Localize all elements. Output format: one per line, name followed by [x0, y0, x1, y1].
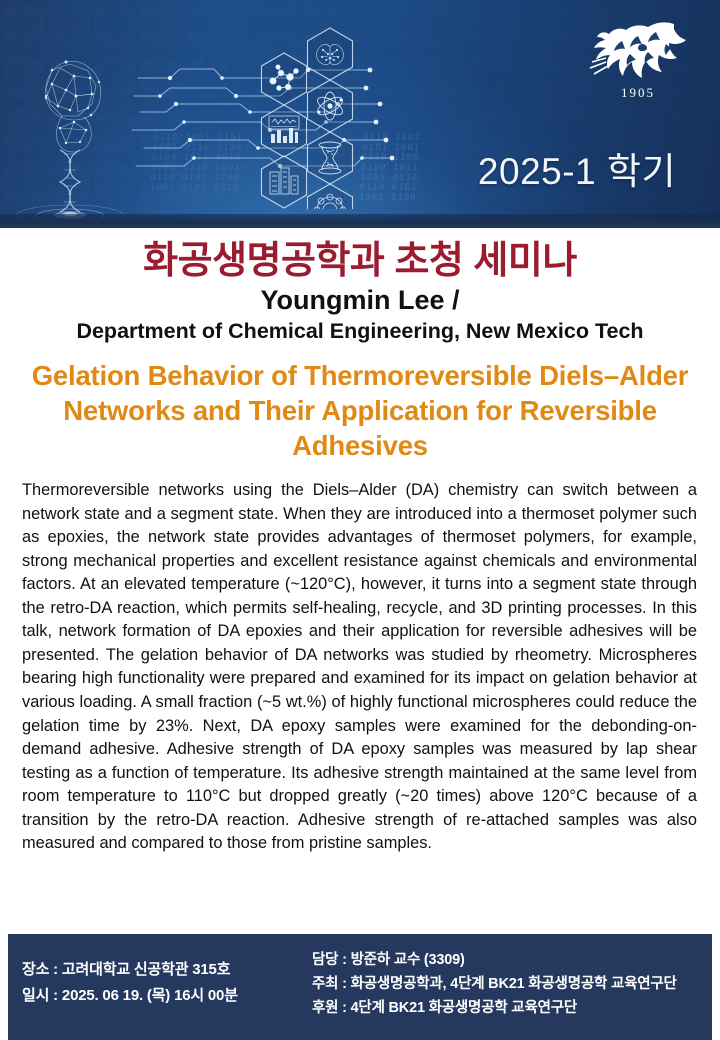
brain-network-icon	[308, 28, 353, 80]
korean-seminar-title: 화공생명공학과 초청 세미나	[0, 228, 720, 283]
footer-sponsor: 후원 : 4단계 BK21 화공생명공학 교육연구단	[312, 999, 712, 1017]
hexagon-icon-cluster	[222, 24, 382, 209]
factory-buildings-icon	[262, 156, 307, 208]
speaker-affiliation: Department of Chemical Engineering, New …	[0, 319, 720, 344]
poster-content: 화공생명공학과 초청 세미나 Youngmin Lee / Department…	[0, 228, 720, 856]
logo-year: 1905	[621, 85, 655, 100]
korea-university-tiger-logo: 1905	[578, 14, 698, 106]
footer-contact: 담당 : 방준하 교수 (3309)	[312, 951, 712, 969]
speaker-name: Youngmin Lee /	[0, 285, 720, 316]
abstract-text: Thermoreversible networks using the Diel…	[0, 479, 720, 856]
lab-flask-dna-icon	[308, 132, 353, 184]
seminar-poster: 0110 1001 0101 1001 0110 1100 0100 1011 …	[0, 0, 720, 1040]
header-bottom-strip	[0, 214, 720, 228]
molecule-icon	[262, 53, 307, 105]
atom-orbit-icon	[308, 80, 353, 132]
footer-location: 장소 : 고려대학교 신공학관 315호	[22, 961, 308, 980]
poster-header: 0110 1001 0101 1001 0110 1100 0100 1011 …	[0, 0, 720, 228]
poster-footer-wrapper: 장소 : 고려대학교 신공학관 315호 일시 : 2025. 06 19. (…	[0, 934, 720, 1040]
footer-left-column: 장소 : 고려대학교 신공학관 315호 일시 : 2025. 06 19. (…	[8, 961, 308, 1013]
footer-host: 주최 : 화공생명공학과, 4단계 BK21 화공생명공학 교육연구단	[312, 975, 712, 993]
bar-chart-monitor-icon	[262, 105, 307, 157]
talk-title: Gelation Behavior of Thermoreversible Di…	[14, 359, 706, 463]
semester-label: 2025-1 학기	[478, 141, 676, 195]
footer-datetime: 일시 : 2025. 06 19. (목) 16시 00분	[22, 987, 308, 1006]
poster-footer: 장소 : 고려대학교 신공학관 315호 일시 : 2025. 06 19. (…	[8, 934, 712, 1040]
gear-network-icon	[308, 184, 353, 209]
footer-right-column: 담당 : 방준하 교수 (3309) 주최 : 화공생명공학과, 4단계 BK2…	[308, 951, 712, 1023]
